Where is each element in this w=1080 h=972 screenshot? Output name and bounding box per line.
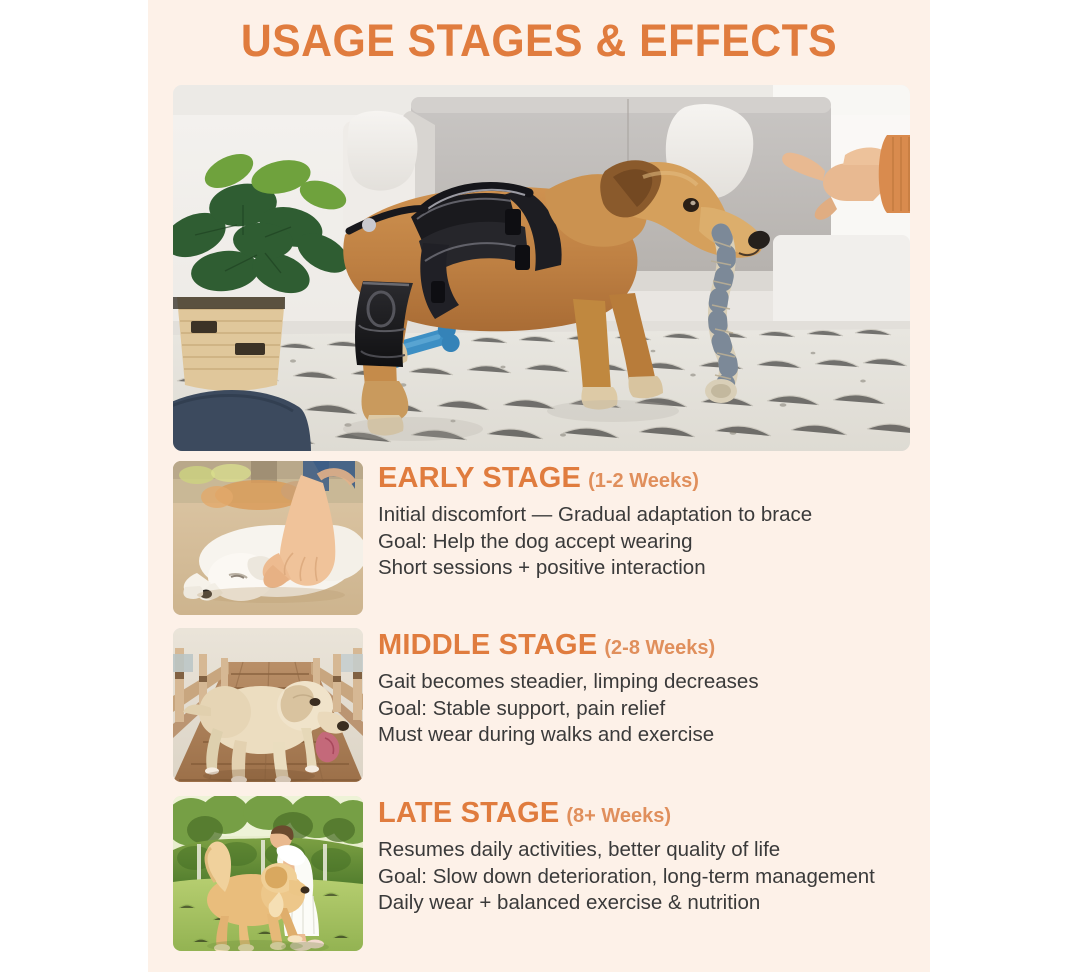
late-stage-illustration	[173, 796, 363, 951]
stage-duration-early: (1-2 Weeks)	[588, 470, 699, 492]
infographic-page: USAGE STAGES & EFFECTS	[0, 0, 1080, 972]
stage-detail-line: Must wear during walks and exercise	[378, 722, 930, 749]
stage-duration-late: (8+ Weeks)	[566, 805, 671, 827]
hero-dog-wearing-brace-image	[173, 85, 910, 451]
stage-detail-line: Goal: Stable support, pain relief	[378, 696, 930, 723]
stage-heading-late: LATE STAGE(8+ Weeks)	[378, 796, 930, 835]
stage-detail-line: Goal: Help the dog accept wearing	[378, 529, 930, 556]
stage-heading-middle: MIDDLE STAGE(2-8 Weeks)	[378, 628, 930, 667]
stage-thumbnail-late	[173, 796, 363, 951]
stage-detail-line: Resumes daily activities, better quality…	[378, 837, 930, 864]
stage-name-middle: MIDDLE STAGE	[378, 629, 597, 661]
stage-text-middle: MIDDLE STAGE(2-8 Weeks) Gait becomes ste…	[378, 628, 930, 749]
content-panel: USAGE STAGES & EFFECTS	[148, 0, 930, 972]
stage-name-late: LATE STAGE	[378, 797, 559, 829]
stage-duration-middle: (2-8 Weeks)	[604, 637, 715, 659]
stage-detail-line: Short sessions + positive interaction	[378, 555, 930, 582]
stage-detail-line: Daily wear + balanced exercise & nutriti…	[378, 890, 930, 917]
stage-thumbnail-middle	[173, 628, 363, 782]
early-stage-illustration	[173, 461, 363, 615]
stage-thumbnail-early	[173, 461, 363, 615]
stage-heading-early: EARLY STAGE(1-2 Weeks)	[378, 461, 930, 500]
stage-detail-line: Goal: Slow down deterioration, long-term…	[378, 864, 930, 891]
stage-detail-line: Initial discomfort — Gradual adaptation …	[378, 502, 930, 529]
middle-stage-illustration	[173, 628, 363, 782]
stage-text-late: LATE STAGE(8+ Weeks) Resumes daily activ…	[378, 796, 930, 917]
stage-detail-line: Gait becomes steadier, limping decreases	[378, 669, 930, 696]
page-title: USAGE STAGES & EFFECTS	[168, 15, 911, 67]
stage-name-early: EARLY STAGE	[378, 462, 581, 494]
stage-text-early: EARLY STAGE(1-2 Weeks) Initial discomfor…	[378, 461, 930, 582]
hero-illustration	[173, 85, 910, 451]
